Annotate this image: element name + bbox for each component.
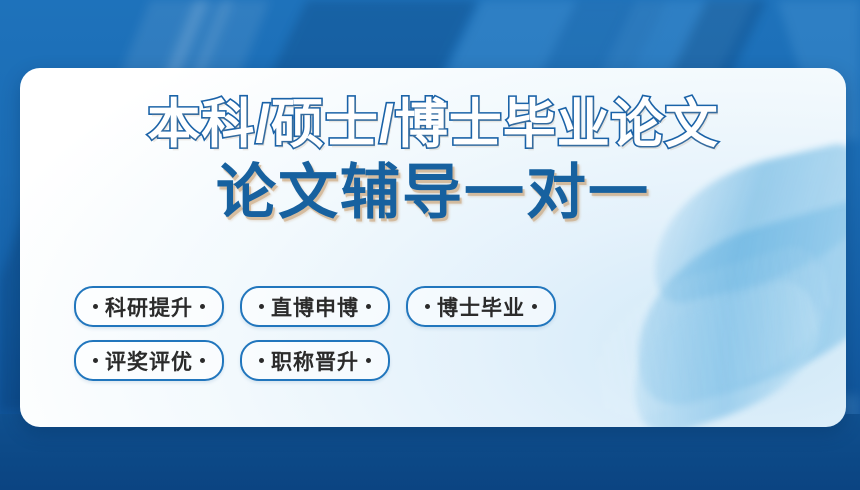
feature-tag[interactable]: 科研提升 xyxy=(74,286,224,327)
bullet-dot-icon xyxy=(425,304,430,309)
feature-tag[interactable]: 职称晋升 xyxy=(240,340,390,381)
bullet-dot-icon xyxy=(366,304,371,309)
bullet-dot-icon xyxy=(532,304,537,309)
bullet-dot-icon xyxy=(259,358,264,363)
bullet-dot-icon xyxy=(93,304,98,309)
bullet-dot-icon xyxy=(200,358,205,363)
headline-block: 本科/硕士/博士毕业论文 论文辅导一对一 xyxy=(20,98,846,223)
feature-tag-label: 科研提升 xyxy=(105,292,193,322)
bullet-dot-icon xyxy=(93,358,98,363)
promo-banner: 本科/硕士/博士毕业论文 论文辅导一对一 科研提升 直博申博 博士毕业 xyxy=(0,0,860,490)
feature-tag-label: 直博申博 xyxy=(271,292,359,322)
feature-tag-row: 评奖评优 职称晋升 xyxy=(74,340,714,381)
bullet-dot-icon xyxy=(259,304,264,309)
feature-tag-row: 科研提升 直博申博 博士毕业 xyxy=(74,286,714,327)
feature-tag-list: 科研提升 直博申博 博士毕业 评奖评优 xyxy=(74,286,714,394)
feature-tag-label: 评奖评优 xyxy=(105,346,193,376)
bullet-dot-icon xyxy=(366,358,371,363)
feature-tag[interactable]: 直博申博 xyxy=(240,286,390,327)
bullet-dot-icon xyxy=(200,304,205,309)
feature-tag[interactable]: 博士毕业 xyxy=(406,286,556,327)
feature-tag-label: 职称晋升 xyxy=(271,346,359,376)
headline-primary: 本科/硕士/博士毕业论文 xyxy=(20,98,846,151)
headline-secondary: 论文辅导一对一 xyxy=(20,163,846,223)
feature-tag[interactable]: 评奖评优 xyxy=(74,340,224,381)
content-card: 本科/硕士/博士毕业论文 论文辅导一对一 科研提升 直博申博 博士毕业 xyxy=(20,68,846,427)
feature-tag-label: 博士毕业 xyxy=(437,292,525,322)
